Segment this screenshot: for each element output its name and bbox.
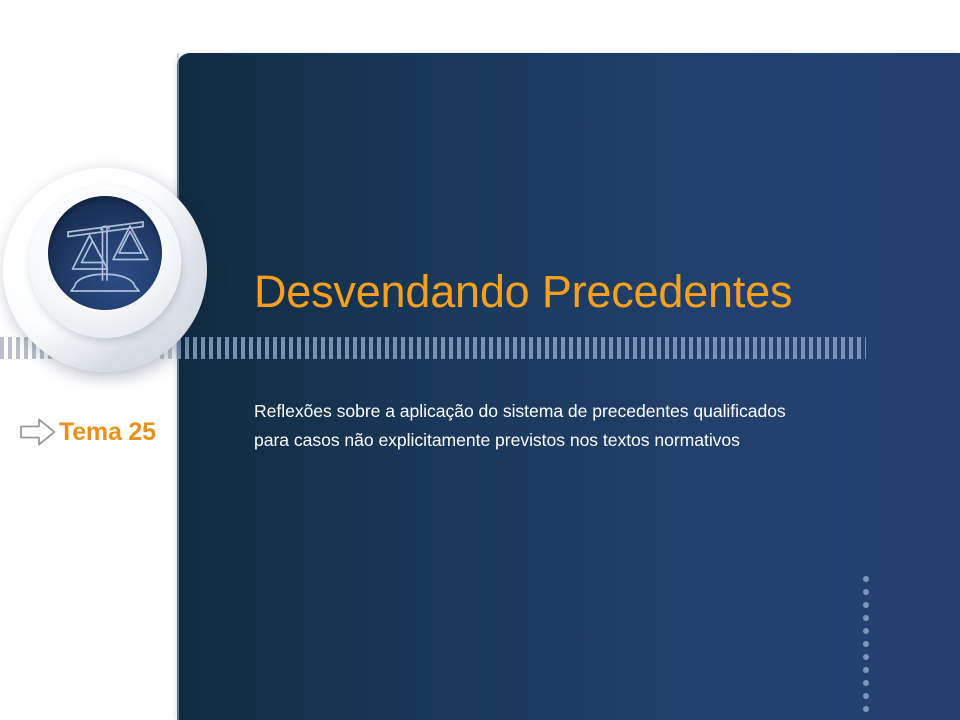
- dot: [863, 602, 869, 608]
- dot: [863, 654, 869, 660]
- subtitle-line-1: Reflexões sobre a aplicação do sistema d…: [254, 397, 879, 426]
- dot: [863, 680, 869, 686]
- navy-content-panel: [177, 53, 960, 720]
- decorative-dot-column: [862, 576, 871, 720]
- dot: [863, 615, 869, 621]
- stripe-band-right-segment: [177, 337, 866, 359]
- dot: [863, 589, 869, 595]
- tema-tag: Tema 25: [18, 410, 156, 454]
- tema-label: Tema 25: [59, 418, 156, 447]
- dot: [863, 693, 869, 699]
- dot: [863, 667, 869, 673]
- dot: [863, 576, 869, 582]
- slide-subtitle: Reflexões sobre a aplicação do sistema d…: [254, 397, 879, 454]
- navy-panel-left-edge: [177, 53, 179, 720]
- right-block-arrow-icon: [18, 416, 58, 448]
- dot: [863, 706, 869, 712]
- dot: [863, 641, 869, 647]
- scales-of-justice-icon: [48, 196, 162, 310]
- dot: [863, 628, 869, 634]
- slide-title: Desvendando Precedentes: [254, 268, 854, 316]
- subtitle-line-2: para casos não explicitamente previstos …: [254, 426, 879, 455]
- presentation-slide: Desvendando Precedentes Reflexões sobre …: [0, 0, 960, 720]
